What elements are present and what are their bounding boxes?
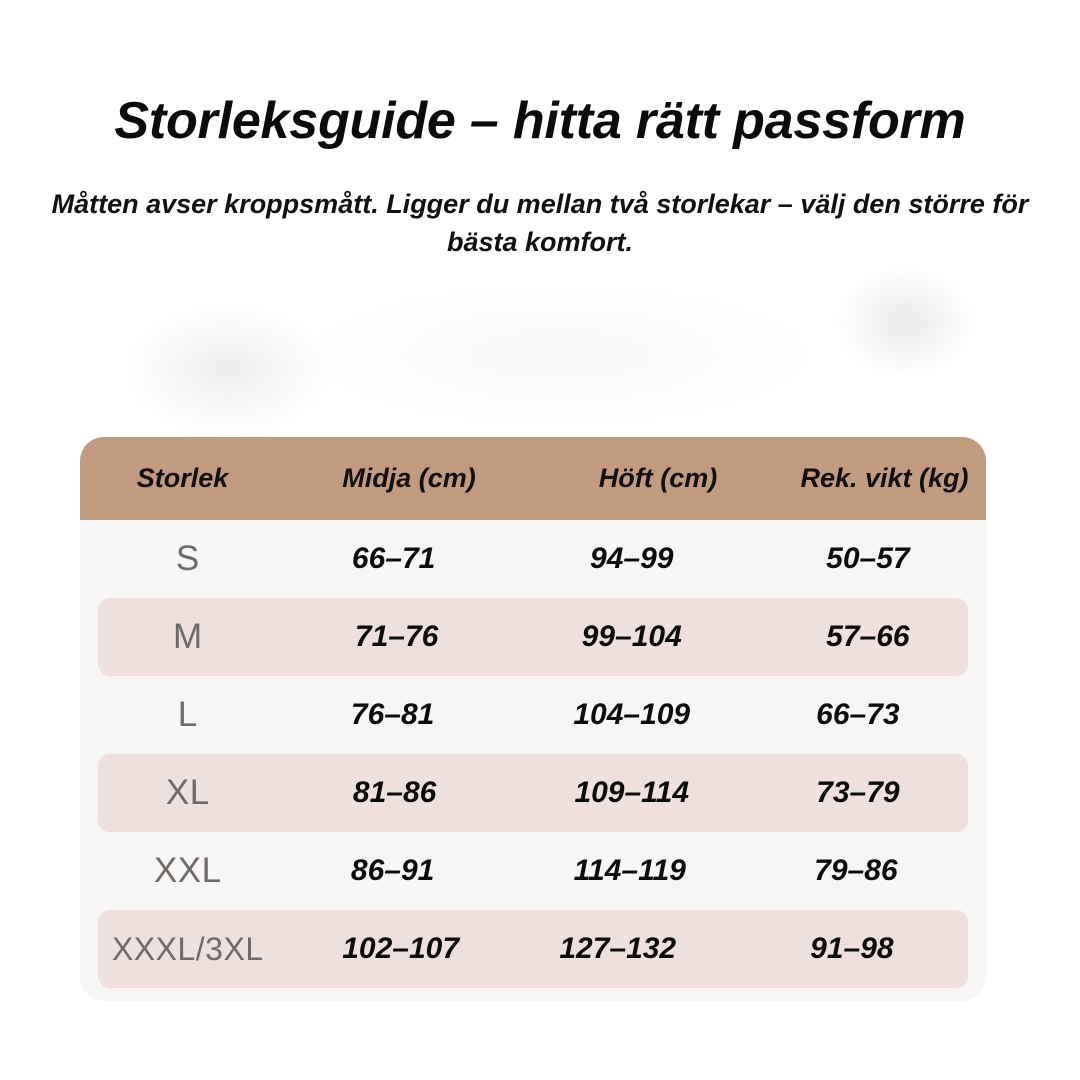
cell-midja: 66–71	[275, 542, 513, 576]
cell-size: XXXL/3XL	[98, 931, 278, 968]
size-table-card: Storlek Midja (cm) Höft (cm) Rek. vikt (…	[80, 437, 986, 1001]
column-header-hoft: Höft (cm)	[533, 463, 783, 494]
cell-hoft: 127–132	[498, 932, 738, 966]
cell-hoft: 114–119	[510, 854, 750, 888]
cell-vikt: 73–79	[752, 776, 964, 810]
cell-size: M	[98, 617, 278, 657]
column-header-storlek: Storlek	[80, 463, 285, 494]
cell-size: S	[98, 539, 278, 579]
table-row: L 76–81 104–109 66–73	[98, 676, 968, 754]
background-artifact	[300, 280, 820, 430]
cell-size: XXL	[98, 851, 278, 891]
cell-vikt: 79–86	[750, 854, 962, 888]
table-row: XXL 86–91 114–119 79–86	[98, 832, 968, 910]
cell-size: L	[98, 695, 278, 735]
column-header-midja: Midja (cm)	[285, 463, 533, 494]
table-header-row: Storlek Midja (cm) Höft (cm) Rek. vikt (…	[80, 437, 986, 520]
cell-size: XL	[98, 773, 278, 813]
cell-hoft: 94–99	[512, 542, 752, 576]
cell-hoft: 104–109	[512, 698, 752, 732]
cell-vikt: 91–98	[746, 932, 958, 966]
table-row: XL 81–86 109–114 73–79	[98, 754, 968, 832]
cell-vikt: 57–66	[762, 620, 974, 654]
table-row: M 71–76 99–104 57–66	[98, 598, 968, 676]
cell-vikt: 50–57	[762, 542, 974, 576]
cell-midja: 71–76	[278, 620, 516, 654]
table-body: S 66–71 94–99 50–57 M 71–76 99–104 57–66…	[80, 520, 986, 1001]
page-title: Storleksguide – hitta rätt passform	[0, 93, 1080, 149]
cell-midja: 81–86	[276, 776, 514, 810]
background-artifact	[830, 262, 980, 382]
background-artifact	[118, 300, 338, 440]
size-guide-page: Storleksguide – hitta rätt passform Mått…	[0, 0, 1080, 1080]
table-row: XXXL/3XL 102–107 127–132 91–98	[98, 910, 968, 988]
cell-midja: 76–81	[274, 698, 512, 732]
table-row: S 66–71 94–99 50–57	[98, 520, 968, 598]
cell-midja: 102–107	[282, 932, 520, 966]
cell-vikt: 66–73	[752, 698, 964, 732]
column-header-rek-vikt: Rek. vikt (kg)	[783, 463, 986, 494]
cell-hoft: 99–104	[512, 620, 752, 654]
page-subtitle: Måtten avser kroppsmått. Ligger du mella…	[24, 185, 1056, 262]
cell-hoft: 109–114	[512, 776, 752, 810]
cell-midja: 86–91	[274, 854, 512, 888]
